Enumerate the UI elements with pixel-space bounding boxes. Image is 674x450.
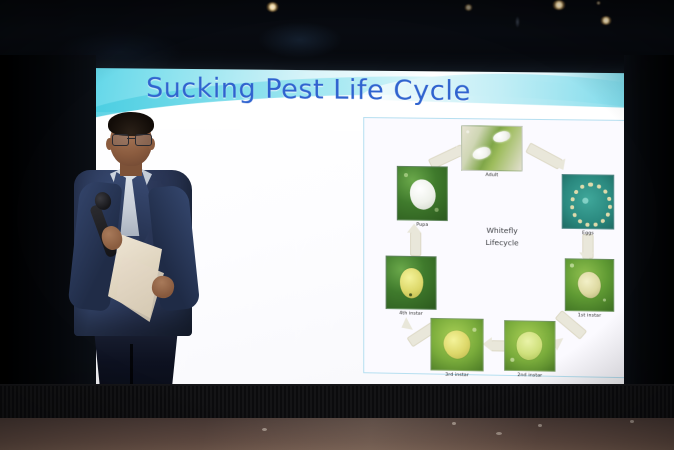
spotlight-icon bbox=[596, 1, 601, 5]
presenter bbox=[58, 108, 208, 408]
third-instar-photo bbox=[430, 318, 483, 372]
eggs-photo bbox=[562, 174, 615, 230]
center-label-line-2: Lifecycle bbox=[485, 237, 518, 250]
adult-whitefly-photo bbox=[461, 125, 522, 171]
arrow-2nd-to-3rd-head bbox=[483, 337, 492, 351]
slide-title: Sucking Pest Life Cycle bbox=[146, 73, 625, 109]
lens-left bbox=[112, 134, 129, 146]
lifecycle-node-label: 3rd instar bbox=[445, 373, 469, 379]
lifecycle-node-label: 4th instar bbox=[399, 311, 423, 316]
eyeglasses-icon bbox=[112, 134, 150, 144]
stage-skirt bbox=[0, 386, 674, 422]
spotlight-icon bbox=[464, 4, 473, 11]
lifecycle-diagram: Adult Eggs bbox=[363, 117, 641, 378]
lifecycle-node-label: 2nd instar bbox=[517, 373, 542, 379]
auditorium-scene: Sucking Pest Life Cycle bbox=[0, 0, 674, 450]
lifecycle-node-1st-instar: 1st instar bbox=[565, 258, 614, 312]
lifecycle-node-pupa: Pupa bbox=[397, 166, 448, 221]
pupa-photo bbox=[397, 166, 448, 221]
diagram-center-label: Whitefly Lifecycle bbox=[485, 225, 518, 250]
arrow-4th-to-pupa bbox=[410, 232, 421, 256]
lifecycle-node-4th-instar: 4th instar bbox=[386, 256, 437, 310]
ceiling bbox=[0, 0, 674, 78]
lifecycle-node-label: 1st instar bbox=[578, 313, 601, 318]
arrow-3rd-to-4th-head bbox=[398, 317, 413, 334]
second-instar-photo bbox=[504, 320, 555, 372]
first-instar-photo bbox=[565, 258, 614, 312]
lifecycle-node-3rd-instar: 3rd instar bbox=[430, 318, 483, 372]
stage-floor-reflection bbox=[0, 418, 674, 450]
lifecycle-node-label: Pupa bbox=[416, 223, 428, 228]
lifecycle-node-label: Adult bbox=[485, 173, 498, 178]
lifecycle-node-adult: Adult bbox=[461, 125, 522, 171]
lifecycle-node-eggs: Eggs bbox=[562, 174, 615, 230]
spotlight-icon bbox=[552, 0, 566, 10]
hall-right-wall bbox=[624, 55, 674, 415]
lifecycle-node-2nd-instar: 2nd instar bbox=[504, 320, 555, 372]
fourth-instar-photo bbox=[386, 256, 437, 310]
presenter-hair bbox=[108, 112, 154, 136]
center-label-line-1: Whitefly bbox=[485, 225, 518, 238]
spotlight-icon bbox=[266, 2, 279, 12]
glasses-bridge bbox=[127, 138, 135, 139]
spotlight-icon bbox=[515, 16, 520, 28]
lens-right bbox=[135, 134, 152, 146]
spotlight-icon bbox=[600, 16, 612, 25]
lifecycle-node-label: Eggs bbox=[582, 231, 594, 236]
